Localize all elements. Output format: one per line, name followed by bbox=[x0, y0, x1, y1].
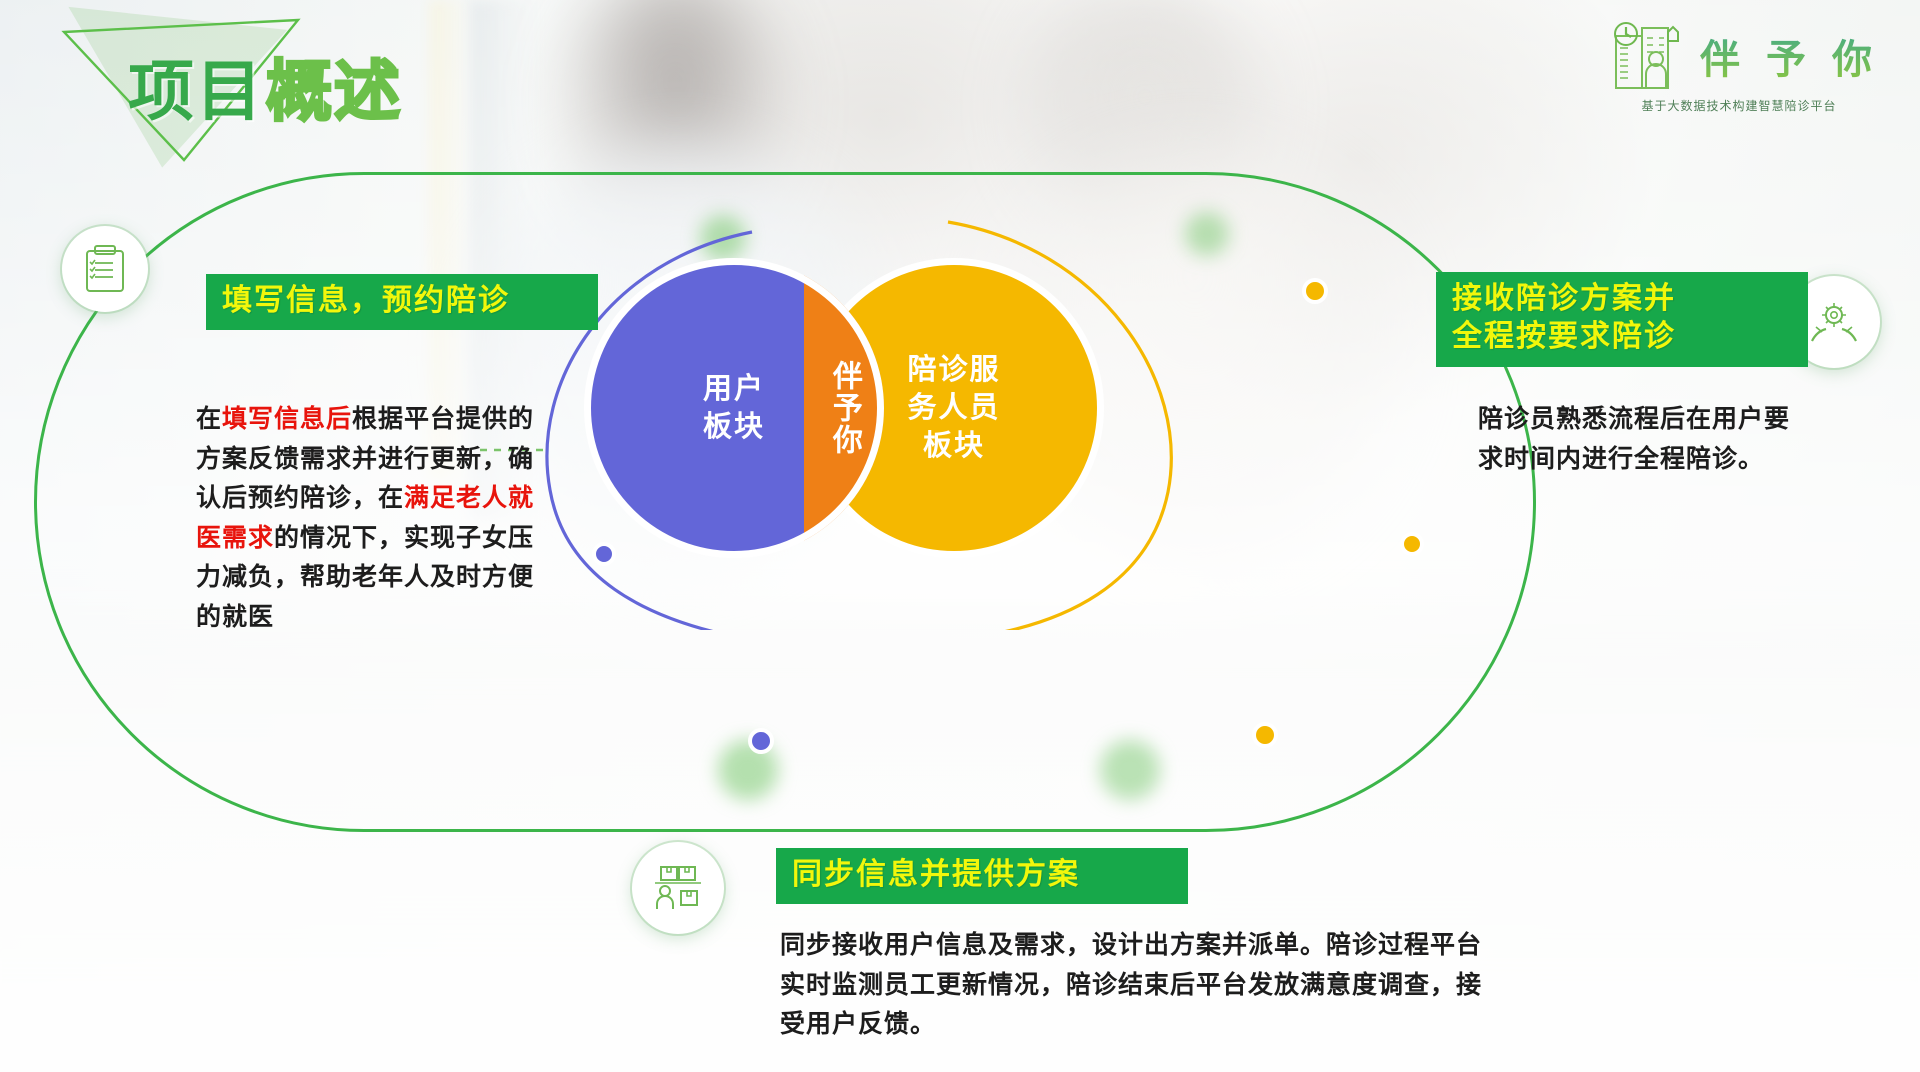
logo-char-1: 伴 bbox=[1700, 27, 1740, 85]
venn-diagram: 用户 板块 陪诊服 务人员 板块 伴予你 bbox=[584, 258, 1104, 558]
highlighted-text: 填写信息后 bbox=[222, 405, 352, 433]
logo-wordmark: 伴 予 你 bbox=[1700, 27, 1872, 85]
glow-bottom-right bbox=[1100, 740, 1160, 800]
section-right-heading: 接收陪诊方案并 全程按要求陪诊 bbox=[1452, 280, 1792, 357]
orbit-dot-yellow-bottom bbox=[1252, 722, 1278, 748]
venn-overlap-label: 伴予你 bbox=[825, 360, 863, 456]
page-title-solid: 项目 bbox=[128, 38, 264, 134]
gear-in-hands-icon bbox=[1808, 297, 1860, 347]
clipboard-checklist-icon bbox=[82, 244, 128, 294]
orbit-dot-purple-bottom bbox=[748, 728, 774, 754]
slide-canvas: 项目 概述 伴 予 你 bbox=[0, 0, 1920, 1072]
logo-tagline: 基于大数据技术构建智慧陪诊平台 bbox=[1641, 97, 1836, 114]
section-left-heading-badge: 填写信息，预约陪诊 bbox=[206, 274, 598, 330]
brand-logo: 伴 予 你 基于大数据技术构建智慧陪诊平台 bbox=[1606, 18, 1872, 114]
venn-left-label: 用户 板块 bbox=[703, 370, 765, 447]
section-left-icon-badge bbox=[62, 226, 148, 312]
section-bottom-icon-badge bbox=[632, 842, 724, 934]
orbit-dot-yellow-top bbox=[1302, 278, 1328, 304]
venn-right-label: 陪诊服 务人员 板块 bbox=[907, 351, 1000, 466]
section-bottom-body: 同步接收用户信息及需求，设计出方案并派单。陪诊过程平台实时监测员工更新情况，陪诊… bbox=[780, 926, 1500, 1045]
logo-char-2: 予 bbox=[1766, 27, 1806, 85]
page-title: 项目 概述 bbox=[128, 38, 402, 134]
venn-overlap-label-wrap: 伴予你 bbox=[804, 258, 884, 558]
section-right-body: 陪诊员熟悉流程后在用户要求时间内进行全程陪诊。 bbox=[1478, 400, 1798, 479]
body-text: 同步接收用户信息及需求，设计出方案并派单。陪诊过程平台实时监测员工更新情况，陪诊… bbox=[780, 931, 1482, 1038]
section-right-heading-badge: 接收陪诊方案并 全程按要求陪诊 bbox=[1436, 272, 1808, 367]
orbit-dot-yellow-mid bbox=[1400, 532, 1424, 556]
page-title-outline: 概述 bbox=[266, 38, 402, 134]
body-text: 在 bbox=[196, 405, 222, 433]
hospital-clock-people-icon bbox=[1606, 18, 1686, 94]
body-text: 陪诊员熟悉流程后在用户要求时间内进行全程陪诊。 bbox=[1478, 405, 1790, 473]
warehouse-delivery-icon bbox=[651, 863, 705, 913]
section-bottom-heading-badge: 同步信息并提供方案 bbox=[776, 848, 1188, 904]
section-bottom-heading: 同步信息并提供方案 bbox=[792, 856, 1172, 894]
logo-row: 伴 予 你 bbox=[1606, 18, 1872, 94]
section-left-body: 在填写信息后根据平台提供的方案反馈需求并进行更新，确认后预约陪诊，在满足老人就医… bbox=[196, 400, 548, 637]
section-left-heading: 填写信息，预约陪诊 bbox=[222, 282, 582, 320]
logo-char-3: 你 bbox=[1832, 27, 1872, 85]
